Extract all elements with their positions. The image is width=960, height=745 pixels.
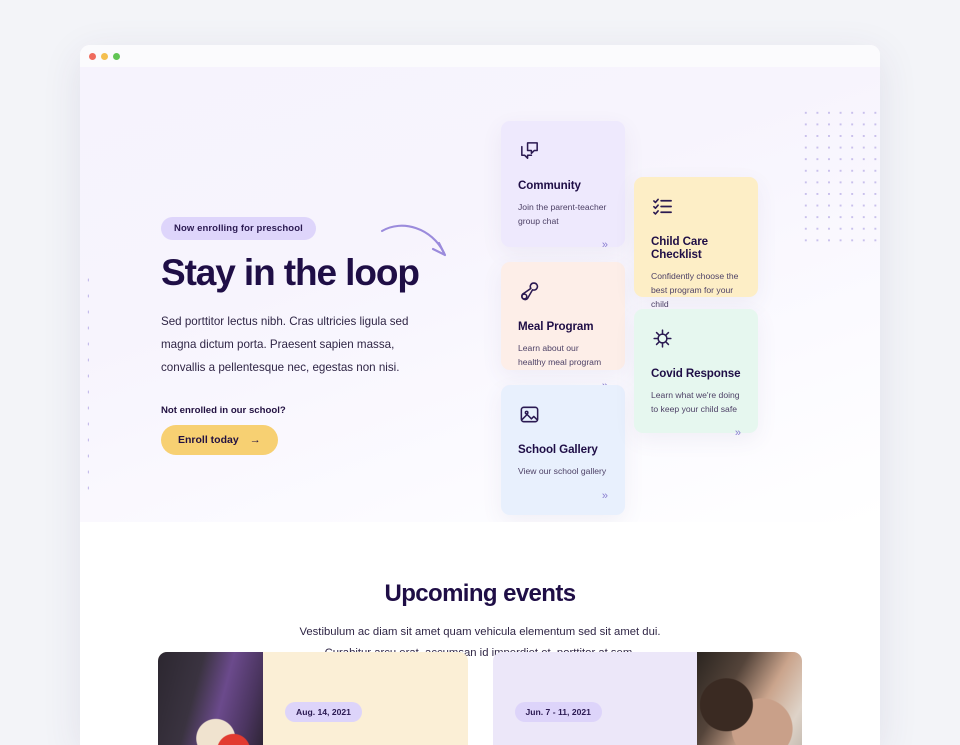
card-title: Child Care Checklist [651,235,741,261]
virus-icon [651,327,741,351]
section-title: Upcoming events [80,580,880,608]
event-card[interactable]: Aug. 14, 2021 [158,652,468,745]
event-date-badge: Aug. 14, 2021 [285,702,362,722]
event-card[interactable]: Jun. 7 - 11, 2021 [493,652,803,745]
hero-section: Now enrolling for preschool Stay in the … [80,67,880,522]
event-body: Jun. 7 - 11, 2021 [493,702,698,722]
card-title: Meal Program [518,320,608,333]
upcoming-events-section: Upcoming events Vestibulum ac diam sit a… [80,522,880,664]
decorative-dot-grid [800,107,880,249]
card-description: Learn about our healthy meal program [518,341,608,369]
event-card-list: Aug. 14, 2021 Jun. 7 - 11, 2021 [80,652,880,745]
card-title: Community [518,179,608,192]
curved-arrow-icon [380,222,452,267]
card-description: Learn what we're doing to keep your chil… [651,388,741,416]
maximize-icon[interactable] [113,53,120,60]
feature-card-child-care-checklist[interactable]: Child Care Checklist Confidently choose … [634,177,758,297]
arrow-right-icon: → [250,435,261,446]
enrolling-badge: Now enrolling for preschool [161,217,316,240]
minimize-icon[interactable] [101,53,108,60]
enroll-today-button[interactable]: Enroll today → [161,425,278,455]
chevron-right-icon[interactable]: » [602,228,608,251]
chevron-right-icon[interactable]: » [735,416,741,439]
card-description: Confidently choose the best program for … [651,269,741,312]
event-thumbnail [158,652,263,745]
card-description: Join the parent-teacher group chat [518,200,608,228]
enroll-button-label: Enroll today [178,434,239,446]
event-body: Aug. 14, 2021 [263,702,468,722]
checklist-icon [651,195,741,219]
close-icon[interactable] [89,53,96,60]
feature-card-school-gallery[interactable]: School Gallery View our school gallery » [501,385,625,515]
event-thumbnail [697,652,802,745]
browser-window: Now enrolling for preschool Stay in the … [80,45,880,745]
card-title: Covid Response [651,367,741,380]
subtitle-line-1: Vestibulum ac diam sit amet quam vehicul… [80,622,880,643]
hero-description: Sed porttitor lectus nibh. Cras ultricie… [161,310,423,380]
feature-card-covid-response[interactable]: Covid Response Learn what we're doing to… [634,309,758,433]
feature-card-meal-program[interactable]: Meal Program Learn about our healthy mea… [501,262,625,370]
card-title: School Gallery [518,443,608,456]
drumstick-icon [518,280,608,304]
chat-bubbles-icon [518,139,608,163]
card-description: View our school gallery [518,464,608,478]
cta-label: Not enrolled in our school? [161,405,451,416]
feature-card-community[interactable]: Community Join the parent-teacher group … [501,121,625,247]
chevron-right-icon[interactable]: » [602,479,608,502]
window-titlebar [80,45,880,67]
event-date-badge: Jun. 7 - 11, 2021 [515,702,602,722]
decorative-dot-column [83,272,89,497]
image-icon [518,403,608,427]
